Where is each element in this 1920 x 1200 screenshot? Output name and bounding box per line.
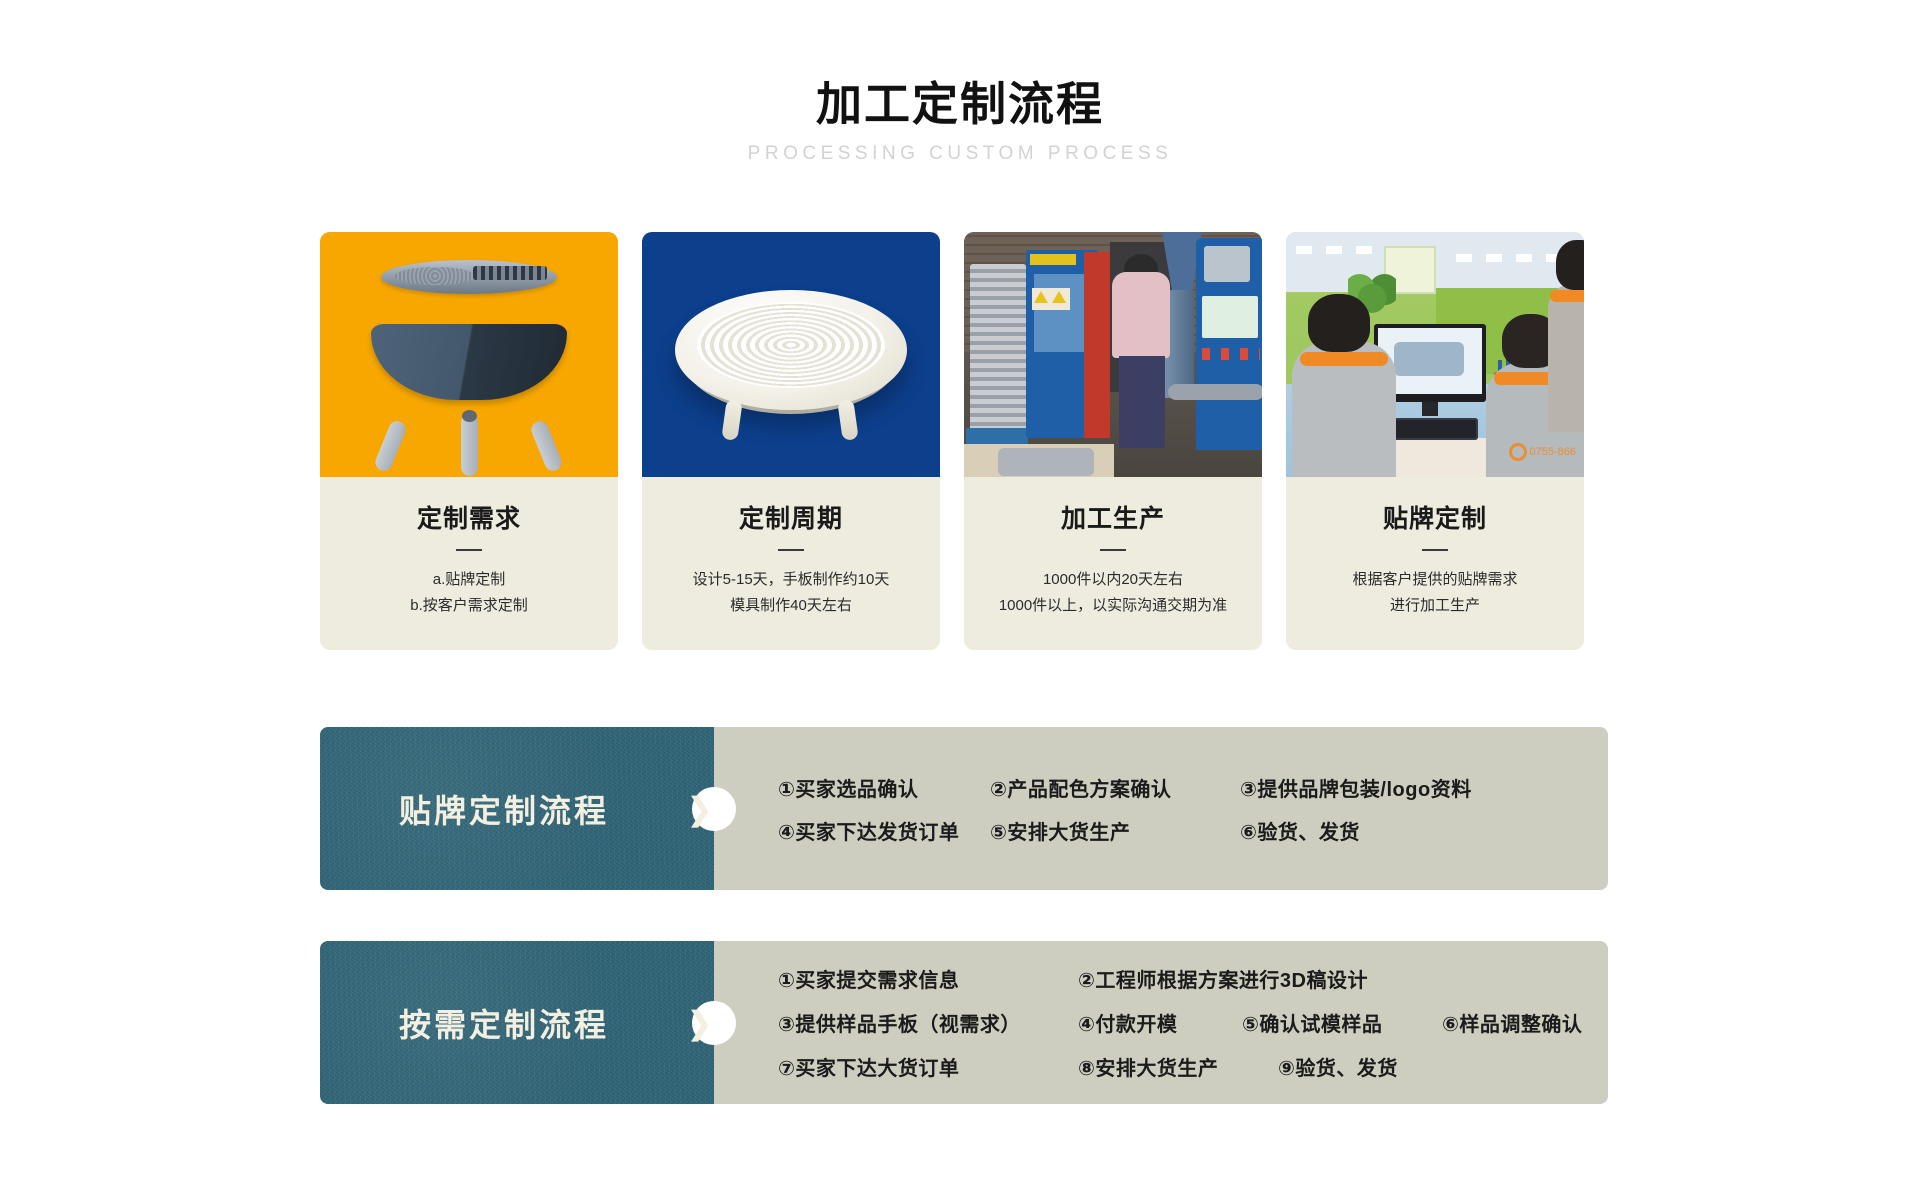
flow-bar-oem: 贴牌定制流程 ❯ ①买家选品确认 ②产品配色方案确认 ③提供品牌包装/logo资…	[320, 727, 1608, 890]
card-1-desc-line-2: b.按客户需求定制	[330, 593, 608, 619]
flow-1-arrow-glyph: ❯	[686, 793, 742, 825]
process-card-row: 定制需求 a.贴牌定制 b.按客户需求定制 定制周期 设计5-15天，手板制作约…	[320, 232, 1608, 650]
flow-2-row-1: ①买家提交需求信息 ②工程师根据方案进行3D稿设计	[778, 957, 1608, 1001]
flow-2-step-6: ⑥样品调整确认	[1442, 1008, 1582, 1037]
prototype-top-shape	[675, 290, 907, 410]
process-card-3[interactable]: 加工生产 1000件以内20天左右 1000件以上，以实际沟通交期为准	[964, 232, 1262, 650]
flow-1-step-4: ④买家下达发货订单	[778, 816, 990, 845]
flow-2-step-2: ②工程师根据方案进行3D稿设计	[1078, 964, 1368, 993]
card-1-desc: a.贴牌定制 b.按客户需求定制	[330, 567, 608, 620]
warning-sign-icon	[1032, 288, 1070, 310]
flow-2-row-3: ⑦买家下达大货订单 ⑧安排大货生产 ⑨验货、发货	[778, 1045, 1608, 1089]
page-subtitle: PROCESSING CUSTOM PROCESS	[0, 143, 1920, 165]
flow-bar-ondemand: 按需定制流程 ❯ ①买家提交需求信息 ②工程师根据方案进行3D稿设计 ③提供样品…	[320, 941, 1608, 1104]
person-left-collar	[1300, 352, 1388, 366]
card-4-desc-line-1: 根据客户提供的贴牌需求	[1296, 567, 1574, 593]
flow-2-step-9: ⑨验货、发货	[1278, 1052, 1398, 1081]
card-2-image	[642, 232, 940, 477]
card-3-title: 加工生产	[974, 499, 1252, 535]
grill-bowl-shape	[371, 324, 567, 400]
flow-2-row-2: ③提供样品手板（视需求） ④付款开模 ⑤确认试模样品 ⑥样品调整确认	[778, 1001, 1608, 1045]
card-1-desc-line-1: a.贴牌定制	[330, 567, 608, 593]
flow-1-step-6: ⑥验货、发货	[1240, 816, 1360, 845]
flow-2-label-panel[interactable]: 按需定制流程 ❯	[320, 941, 714, 1104]
flow-1-row-1: ①买家选品确认 ②产品配色方案确认 ③提供品牌包装/logo资料	[778, 766, 1608, 809]
card-1-title: 定制需求	[330, 499, 608, 535]
flow-2-arrow-glyph: ❯	[686, 1007, 742, 1039]
process-card-2[interactable]: 定制周期 设计5-15天，手板制作约10天 模具制作40天左右	[642, 232, 940, 650]
card-4-body: 贴牌定制 根据客户提供的贴牌需求 进行加工生产	[1286, 477, 1584, 650]
card-2-body: 定制周期 设计5-15天，手板制作约10天 模具制作40天左右	[642, 477, 940, 650]
card-1-body: 定制需求 a.贴牌定制 b.按客户需求定制	[320, 477, 618, 650]
card-3-desc: 1000件以内20天左右 1000件以上，以实际沟通交期为准	[974, 567, 1252, 620]
control-buttons	[1202, 348, 1260, 360]
watermark-ring-icon	[1509, 443, 1527, 461]
process-card-1[interactable]: 定制需求 a.贴牌定制 b.按客户需求定制	[320, 232, 618, 650]
flow-2-step-8: ⑧安排大货生产	[1078, 1052, 1278, 1081]
stacked-parts	[970, 264, 1026, 434]
machine-label	[1030, 254, 1076, 265]
flow-1-step-3: ③提供品牌包装/logo资料	[1240, 773, 1472, 802]
worker-shirt	[1112, 272, 1170, 358]
flow-1-step-2: ②产品配色方案确认	[990, 773, 1240, 802]
card-4-divider	[1422, 549, 1448, 551]
card-3-desc-line-2: 1000件以上，以实际沟通交期为准	[974, 593, 1252, 619]
card-3-desc-line-1: 1000件以内20天左右	[974, 567, 1252, 593]
chevron-right-icon-2[interactable]: ❯	[692, 1001, 736, 1045]
flow-2-step-5: ⑤确认试模样品	[1242, 1008, 1442, 1037]
card-4-title: 贴牌定制	[1296, 499, 1574, 535]
flow-2-step-1: ①买家提交需求信息	[778, 964, 1078, 993]
watermark-logo: 0755-866	[1509, 443, 1577, 461]
card-1-divider	[456, 549, 482, 551]
monitor-stand	[1422, 402, 1438, 416]
grill-lid-shape	[381, 260, 557, 294]
person-right-head	[1556, 240, 1584, 290]
prototype-leg-left	[721, 399, 742, 441]
flow-2-label: 按需定制流程	[399, 1000, 635, 1046]
flow-2-steps: ①买家提交需求信息 ②工程师根据方案进行3D稿设计 ③提供样品手板（视需求） ④…	[714, 941, 1608, 1104]
flow-1-steps: ①买家选品确认 ②产品配色方案确认 ③提供品牌包装/logo资料 ④买家下达发货…	[714, 727, 1608, 890]
flow-1-step-1: ①买家选品确认	[778, 773, 990, 802]
card-3-divider	[1100, 549, 1126, 551]
metal-pipe	[1168, 384, 1262, 400]
keyboard	[1382, 418, 1478, 440]
grill-leg-right	[529, 419, 564, 474]
flow-1-step-5: ⑤安排大货生产	[990, 816, 1240, 845]
page-header: 加工定制流程 PROCESSING CUSTOM PROCESS	[0, 0, 1920, 165]
worker-trousers	[1119, 356, 1165, 448]
card-2-divider	[778, 549, 804, 551]
chevron-right-icon[interactable]: ❯	[692, 787, 736, 831]
process-card-4[interactable]: 0755-866 贴牌定制 根据客户提供的贴牌需求 进行加工生产	[1286, 232, 1584, 650]
card-4-desc-line-2: 进行加工生产	[1296, 593, 1574, 619]
flow-1-row-2: ④买家下达发货订单 ⑤安排大货生产 ⑥验货、发货	[778, 809, 1608, 852]
control-display-lower	[1202, 296, 1258, 338]
card-2-desc-line-2: 模具制作40天左右	[652, 593, 930, 619]
card-2-desc: 设计5-15天，手板制作约10天 模具制作40天左右	[652, 567, 930, 620]
flow-2-step-7: ⑦买家下达大货订单	[778, 1052, 1078, 1081]
card-1-image	[320, 232, 618, 477]
person-right-body	[1548, 284, 1584, 432]
person-right-collar	[1550, 290, 1584, 302]
person-left-head	[1308, 294, 1370, 352]
card-4-image: 0755-866	[1286, 232, 1584, 477]
page-title: 加工定制流程	[0, 78, 1920, 131]
page-root: 加工定制流程 PROCESSING CUSTOM PROCESS 定制需求 a.…	[0, 0, 1920, 1200]
red-press-column	[1084, 252, 1110, 438]
card-3-image	[964, 232, 1262, 477]
control-display-upper	[1204, 246, 1250, 282]
flow-2-step-4: ④付款开模	[1078, 1008, 1242, 1037]
grill-leg-center	[461, 414, 478, 476]
card-2-desc-line-1: 设计5-15天，手板制作约10天	[652, 567, 930, 593]
flow-1-label: 贴牌定制流程	[399, 786, 635, 832]
cad-drawing-on-screen	[1394, 342, 1464, 376]
grill-leg-left	[373, 419, 408, 474]
card-4-desc: 根据客户提供的贴牌需求 进行加工生产	[1296, 567, 1574, 620]
card-2-title: 定制周期	[652, 499, 930, 535]
flow-2-step-3: ③提供样品手板（视需求）	[778, 1008, 1078, 1037]
card-3-body: 加工生产 1000件以内20天左右 1000件以上，以实际沟通交期为准	[964, 477, 1262, 650]
watermark-text: 0755-866	[1530, 446, 1577, 458]
prototype-leg-right	[837, 399, 858, 441]
flow-1-label-panel[interactable]: 贴牌定制流程 ❯	[320, 727, 714, 890]
moulded-part	[998, 448, 1094, 476]
